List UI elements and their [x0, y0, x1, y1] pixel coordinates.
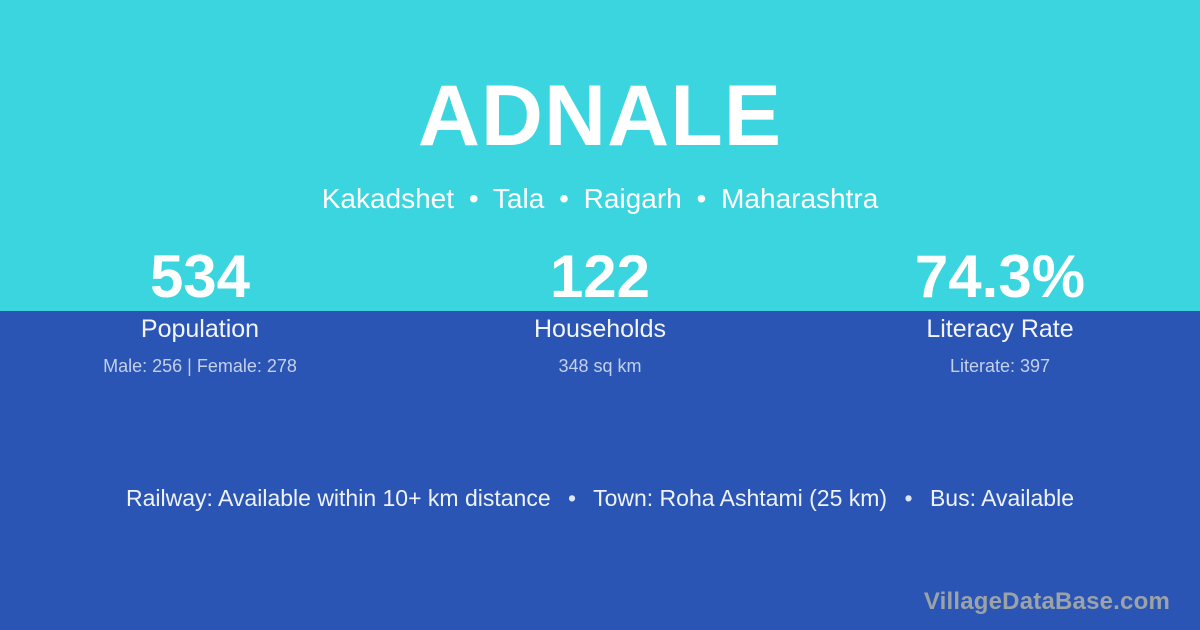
breadcrumb-part-block: Tala — [493, 183, 544, 214]
card-content: ADNALE Kakadshet • Tala • Raigarh • Maha… — [0, 0, 1200, 630]
breadcrumb-separator: • — [552, 183, 576, 214]
breadcrumb-part-gram-panchayat: Kakadshet — [322, 183, 454, 214]
breadcrumb: Kakadshet • Tala • Raigarh • Maharashtra — [0, 182, 1200, 216]
stat-population: 534 Population Male: 256 | Female: 278 — [0, 243, 400, 378]
stat-sub: Male: 256 | Female: 278 — [0, 356, 400, 378]
stat-label: Population — [0, 314, 400, 344]
page-title: ADNALE — [0, 73, 1200, 159]
breadcrumb-part-district: Raigarh — [584, 183, 682, 214]
stats-row: 534 Population Male: 256 | Female: 278 1… — [0, 243, 1200, 378]
fact-separator: • — [893, 485, 923, 511]
stat-label: Households — [400, 314, 800, 344]
site-brand-watermark: VillageDataBase.com — [924, 588, 1170, 617]
fact-bus: Bus: Available — [930, 485, 1074, 511]
stat-value: 74.3% — [800, 243, 1200, 310]
stat-households: 122 Households 348 sq km — [400, 243, 800, 378]
village-info-card: ADNALE Kakadshet • Tala • Raigarh • Maha… — [0, 0, 1200, 630]
stat-sub: Literate: 397 — [800, 356, 1200, 378]
breadcrumb-separator: • — [462, 183, 486, 214]
breadcrumb-separator: • — [690, 183, 714, 214]
fact-railway: Railway: Available within 10+ km distanc… — [126, 485, 551, 511]
stat-sub: 348 sq km — [400, 356, 800, 378]
stat-literacy-rate: 74.3% Literacy Rate Literate: 397 — [800, 243, 1200, 378]
breadcrumb-part-state: Maharashtra — [721, 183, 878, 214]
stat-label: Literacy Rate — [800, 314, 1200, 344]
fact-separator: • — [557, 485, 587, 511]
stat-value: 534 — [0, 243, 400, 310]
stat-value: 122 — [400, 243, 800, 310]
facts-line: Railway: Available within 10+ km distanc… — [0, 484, 1200, 514]
fact-town: Town: Roha Ashtami (25 km) — [593, 485, 887, 511]
